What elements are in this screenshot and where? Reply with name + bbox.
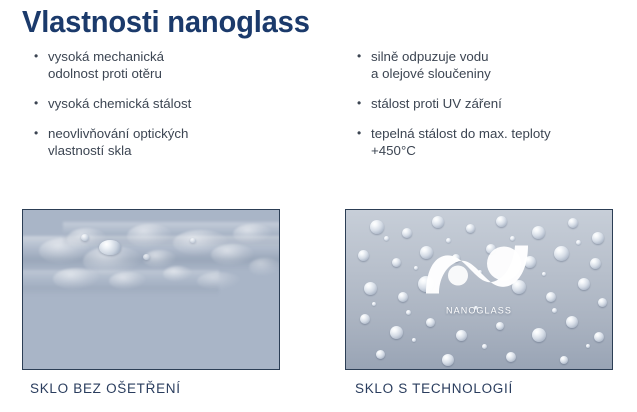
list-item: stálost proti UV záření [357, 95, 637, 112]
list-item-line: silně odpuzuje vodu [371, 48, 637, 65]
figure-caption-untreated: SKLO BEZ OŠETŘENÍ [30, 381, 181, 396]
list-item-line: vysoká chemická stálost [48, 95, 345, 112]
list-item-line: vlastností skla [48, 142, 345, 159]
feature-list: vysoká mechanická odolnost proti otěru v… [0, 48, 637, 172]
list-item: neovlivňování optických vlastností skla [34, 125, 345, 159]
list-item: silně odpuzuje vodu a olejové sloučeniny [357, 48, 637, 82]
feature-column-left: vysoká mechanická odolnost proti otěru v… [0, 48, 345, 172]
nanoglass-wordmark: Nanoglass [404, 301, 554, 316]
figure-caption-treated: SKLO S TECHNOLOGIÍ [355, 381, 513, 396]
figure-treated-glass: Nanoglass [345, 209, 613, 370]
list-item-line: +450°C [371, 142, 637, 159]
feature-column-right: silně odpuzuje vodu a olejové sloučeniny… [345, 48, 637, 172]
list-item-line: odolnost proti otěru [48, 65, 345, 82]
list-item-line: tepelná stálost do max. teploty [371, 125, 637, 142]
list-item: vysoká mechanická odolnost proti otěru [34, 48, 345, 82]
page-title: Vlastnosti nanoglass [22, 4, 310, 40]
photo-untreated-glass [23, 210, 279, 369]
list-item: vysoká chemická stálost [34, 95, 345, 112]
photo-treated-glass: Nanoglass [346, 210, 612, 369]
list-item: tepelná stálost do max. teploty +450°C [357, 125, 637, 159]
list-item-line: stálost proti UV záření [371, 95, 637, 112]
figure-untreated-glass [22, 209, 280, 370]
list-item-line: neovlivňování optických [48, 125, 345, 142]
list-item-line: a olejové sloučeniny [371, 65, 637, 82]
list-item-line: vysoká mechanická [48, 48, 345, 65]
